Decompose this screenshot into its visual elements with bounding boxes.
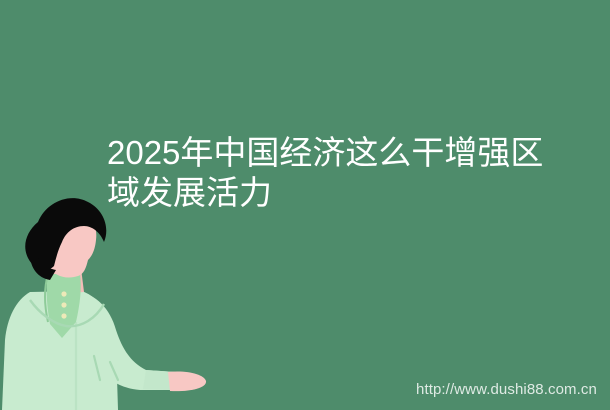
page-title: 2025年中国经济这么干增强区域发展活力 bbox=[107, 133, 559, 213]
collar-button-3 bbox=[61, 313, 66, 318]
article-cover-banner: 2025年中国经济这么干增强区域发展活力 http://www.dushi88.… bbox=[0, 0, 610, 410]
source-watermark: http://www.dushi88.com.cn bbox=[416, 381, 597, 399]
hand-shape bbox=[168, 371, 206, 391]
person-illustration bbox=[0, 196, 210, 410]
collar-button-2 bbox=[61, 302, 66, 307]
collar-button-1 bbox=[61, 291, 66, 296]
